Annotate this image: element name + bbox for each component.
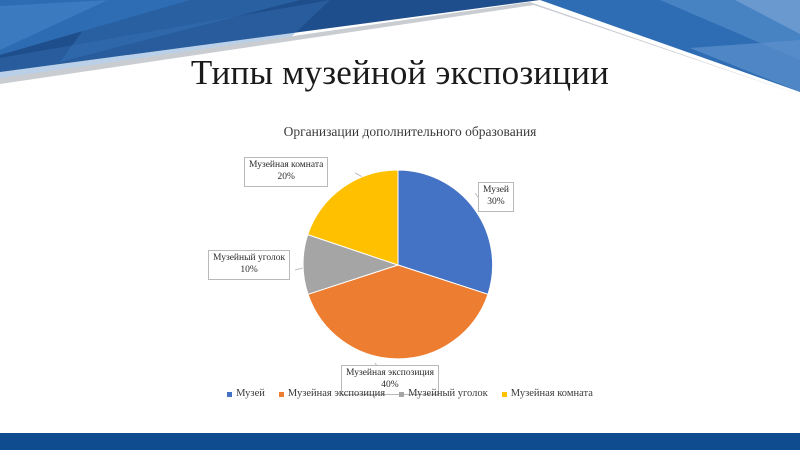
- legend-swatch-corner: [399, 392, 404, 397]
- legend-item-exposition: Музейная экспозиция: [279, 388, 385, 400]
- data-label-museum: Музей 30%: [478, 182, 514, 212]
- data-label-room: Музейная комната 20%: [244, 157, 328, 187]
- legend-item-room: Музейная комната: [502, 388, 593, 400]
- legend-item-corner: Музейный уголок: [399, 388, 488, 400]
- legend-swatch-room: [502, 392, 507, 397]
- data-label-corner-name: Музейный уголок: [213, 253, 285, 263]
- legend-swatch-exposition: [279, 392, 284, 397]
- legend-label-corner: Музейный уголок: [408, 388, 488, 400]
- legend-item-museum: Музей: [227, 388, 265, 400]
- presentation-slide: Типы музейной экспозиции Организации доп…: [0, 0, 800, 450]
- data-label-room-name: Музейная комната: [249, 160, 323, 170]
- footer-bar: [0, 433, 800, 450]
- legend-label-museum: Музей: [236, 388, 265, 400]
- legend-label-exposition: Музейная экспозиция: [288, 388, 385, 400]
- data-label-corner-value: 10%: [213, 265, 285, 277]
- legend-label-room: Музейная комната: [511, 388, 593, 400]
- data-label-museum-name: Музей: [483, 185, 509, 195]
- chart-legend: Музей Музейная экспозиция Музейный уголо…: [200, 386, 620, 402]
- page-title: Типы музейной экспозиции: [0, 52, 800, 94]
- legend-swatch-museum: [227, 392, 232, 397]
- data-label-exposition-name: Музейная экспозиция: [346, 368, 434, 378]
- data-label-museum-value: 30%: [483, 197, 509, 209]
- data-label-corner: Музейный уголок 10%: [208, 250, 290, 280]
- data-label-room-value: 20%: [249, 172, 323, 184]
